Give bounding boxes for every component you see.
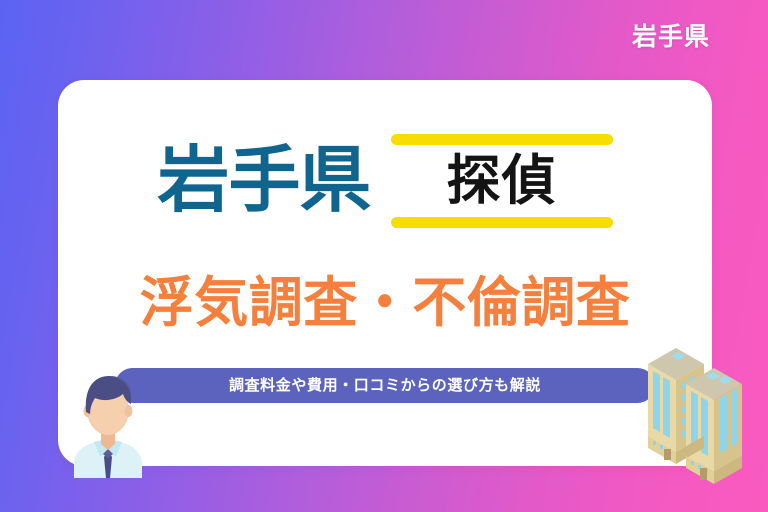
- headline-row: 岩手県 探偵: [58, 132, 712, 228]
- keyword-block: 探偵: [391, 132, 613, 228]
- description-banner: 調査料金や費用・口コミからの選び方も解説: [115, 368, 655, 403]
- page-title-prefecture: 岩手県: [157, 144, 370, 216]
- description-banner-text: 調査料金や費用・口コミからの選び方も解説: [229, 378, 541, 393]
- office-buildings-illustration: [638, 334, 756, 486]
- keyword-underline-bottom: [391, 217, 613, 228]
- banner-canvas: 岩手県 岩手県 探偵 浮気調査・不倫調査 調査料金や費用・口コミからの選び方も解…: [0, 0, 768, 512]
- content-card: 岩手県 探偵 浮気調査・不倫調査 調査料金や費用・口コミからの選び方も解説: [58, 80, 712, 466]
- businessman-illustration: [64, 358, 152, 478]
- page-title-keyword: 探偵: [391, 154, 613, 208]
- page-subtitle: 浮気調査・不倫調査: [58, 276, 712, 330]
- corner-prefecture-badge: 岩手県: [632, 24, 710, 49]
- keyword-underline-top: [391, 134, 613, 145]
